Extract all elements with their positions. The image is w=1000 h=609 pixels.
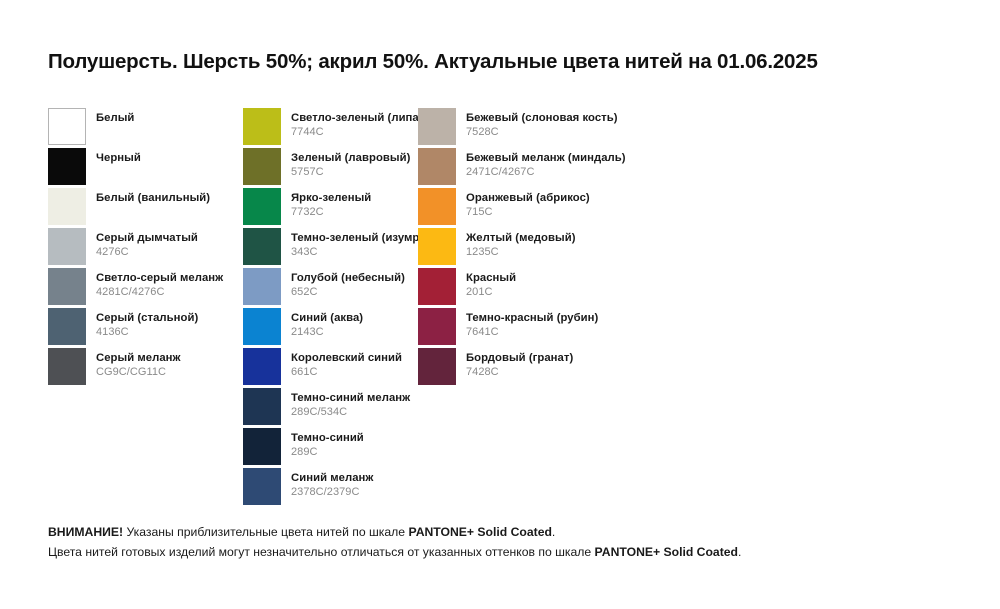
- color-name: Серый (стальной): [96, 312, 198, 325]
- swatch-row[interactable]: Бежевый (слоновая кость)7528C: [418, 108, 658, 148]
- pantone-code: 652C: [291, 286, 405, 299]
- swatch-labels: Серый (стальной)4136C: [96, 308, 198, 339]
- color-swatch[interactable]: [48, 268, 86, 305]
- swatch-row[interactable]: Серый дымчатый4276C: [48, 228, 238, 268]
- pantone-code: 7744C: [291, 126, 423, 139]
- swatch-row[interactable]: Темно-синий меланж289C/534C: [243, 388, 423, 428]
- color-name: Ярко-зеленый: [291, 192, 371, 205]
- swatch-labels: Зеленый (лавровый)5757C: [291, 148, 410, 179]
- color-swatch[interactable]: [243, 188, 281, 225]
- swatch-row[interactable]: Зеленый (лавровый)5757C: [243, 148, 423, 188]
- swatch-labels: Королевский синий661C: [291, 348, 402, 379]
- color-swatch[interactable]: [243, 108, 281, 145]
- footer-note: ВНИМАНИЕ! Указаны приблизительные цвета …: [48, 522, 741, 562]
- color-swatch[interactable]: [418, 108, 456, 145]
- swatch-labels: Белый (ванильный): [96, 188, 210, 205]
- footer-line-1: ВНИМАНИЕ! Указаны приблизительные цвета …: [48, 522, 741, 542]
- pantone-code: 289C: [291, 446, 364, 459]
- swatch-row[interactable]: Красный201C: [418, 268, 658, 308]
- swatch-row[interactable]: Серый (стальной)4136C: [48, 308, 238, 348]
- color-swatch[interactable]: [243, 468, 281, 505]
- color-name: Синий (аква): [291, 312, 363, 325]
- footer-line-1-end: .: [552, 525, 555, 539]
- color-name: Светло-серый меланж: [96, 272, 223, 285]
- pantone-code: 4276C: [96, 246, 198, 259]
- swatch-labels: Темно-синий меланж289C/534C: [291, 388, 410, 419]
- color-swatch[interactable]: [243, 148, 281, 185]
- color-name: Зеленый (лавровый): [291, 152, 410, 165]
- footer-pantone-label-2: PANTONE+ Solid Coated: [595, 545, 738, 559]
- color-swatch[interactable]: [418, 148, 456, 185]
- pantone-code: 2143C: [291, 326, 363, 339]
- color-swatch[interactable]: [418, 228, 456, 265]
- swatch-labels: Черный: [96, 148, 141, 165]
- color-swatch[interactable]: [48, 308, 86, 345]
- color-name: Оранжевый (абрикос): [466, 192, 590, 205]
- pantone-code: 4136C: [96, 326, 198, 339]
- color-name: Королевский синий: [291, 352, 402, 365]
- swatch-labels: Бежевый (слоновая кость)7528C: [466, 108, 618, 139]
- swatch-labels: Синий меланж2378C/2379C: [291, 468, 374, 499]
- footer-line-2-text: Цвета нитей готовых изделий могут незнач…: [48, 545, 595, 559]
- color-swatch[interactable]: [48, 188, 86, 225]
- swatch-row[interactable]: Черный: [48, 148, 238, 188]
- swatch-labels: Бордовый (гранат)7428C: [466, 348, 573, 379]
- pantone-code: 2378C/2379C: [291, 486, 374, 499]
- swatch-row[interactable]: Голубой (небесный)652C: [243, 268, 423, 308]
- footer-line-2: Цвета нитей готовых изделий могут незнач…: [48, 542, 741, 562]
- swatch-row[interactable]: Желтый (медовый)1235C: [418, 228, 658, 268]
- pantone-code: 201C: [466, 286, 516, 299]
- color-name: Серый меланж: [96, 352, 181, 365]
- color-swatch[interactable]: [418, 188, 456, 225]
- color-swatch[interactable]: [418, 308, 456, 345]
- color-swatch[interactable]: [243, 428, 281, 465]
- footer-line-1-text: Указаны приблизительные цвета нитей по ш…: [123, 525, 408, 539]
- swatch-labels: Серый дымчатый4276C: [96, 228, 198, 259]
- swatch-labels: Серый меланжCG9C/CG11C: [96, 348, 181, 379]
- swatch-row[interactable]: Бордовый (гранат)7428C: [418, 348, 658, 388]
- swatch-row[interactable]: Королевский синий661C: [243, 348, 423, 388]
- color-name: Темно-синий: [291, 432, 364, 445]
- swatch-labels: Темно-синий289C: [291, 428, 364, 459]
- color-swatch[interactable]: [48, 228, 86, 265]
- swatch-labels: Темно-зеленый (изумруд)343C: [291, 228, 436, 259]
- column-neutrals: БелыйЧерныйБелый (ванильный)Серый дымчат…: [48, 108, 238, 388]
- color-name: Желтый (медовый): [466, 232, 576, 245]
- swatch-row[interactable]: Белый (ванильный): [48, 188, 238, 228]
- pantone-code: 1235C: [466, 246, 576, 259]
- color-name: Белый (ванильный): [96, 192, 210, 205]
- pantone-code: 661C: [291, 366, 402, 379]
- swatch-row[interactable]: Серый меланжCG9C/CG11C: [48, 348, 238, 388]
- pantone-code: 7732C: [291, 206, 371, 219]
- color-name: Серый дымчатый: [96, 232, 198, 245]
- swatch-labels: Светло-зеленый (липа)7744C: [291, 108, 423, 139]
- swatch-row[interactable]: Белый: [48, 108, 238, 148]
- swatch-row[interactable]: Темно-красный (рубин)7641C: [418, 308, 658, 348]
- swatch-labels: Темно-красный (рубин)7641C: [466, 308, 598, 339]
- pantone-code: 7428C: [466, 366, 573, 379]
- swatch-labels: Ярко-зеленый7732C: [291, 188, 371, 219]
- color-name: Бежевый (слоновая кость): [466, 112, 618, 125]
- color-name: Бордовый (гранат): [466, 352, 573, 365]
- color-name: Темно-синий меланж: [291, 392, 410, 405]
- color-swatch[interactable]: [48, 348, 86, 385]
- swatch-labels: Белый: [96, 108, 134, 125]
- page-title: Полушерсть. Шерсть 50%; акрил 50%. Актуа…: [48, 50, 818, 74]
- swatch-row[interactable]: Ярко-зеленый7732C: [243, 188, 423, 228]
- swatch-row[interactable]: Светло-серый меланж4281C/4276C: [48, 268, 238, 308]
- footer-pantone-label-1: PANTONE+ Solid Coated: [408, 525, 551, 539]
- pantone-code: 289C/534C: [291, 406, 410, 419]
- swatch-labels: Бежевый меланж (миндаль)2471C/4267C: [466, 148, 626, 179]
- pantone-code: CG9C/CG11C: [96, 366, 181, 379]
- pantone-code: 7641C: [466, 326, 598, 339]
- swatch-row[interactable]: Бежевый меланж (миндаль)2471C/4267C: [418, 148, 658, 188]
- swatch-labels: Красный201C: [466, 268, 516, 299]
- color-name: Светло-зеленый (липа): [291, 112, 423, 125]
- color-swatch[interactable]: [418, 348, 456, 385]
- pantone-code: 715C: [466, 206, 590, 219]
- color-name: Голубой (небесный): [291, 272, 405, 285]
- pantone-code: 7528C: [466, 126, 618, 139]
- swatch-row[interactable]: Синий (аква)2143C: [243, 308, 423, 348]
- pantone-code: 343C: [291, 246, 436, 259]
- footer-attention-label: ВНИМАНИЕ!: [48, 525, 123, 539]
- color-name: Темно-красный (рубин): [466, 312, 598, 325]
- color-swatch[interactable]: [48, 108, 86, 145]
- color-swatch[interactable]: [48, 148, 86, 185]
- swatch-labels: Желтый (медовый)1235C: [466, 228, 576, 259]
- swatch-row[interactable]: Синий меланж2378C/2379C: [243, 468, 423, 508]
- swatch-labels: Голубой (небесный)652C: [291, 268, 405, 299]
- footer-line-2-end: .: [738, 545, 741, 559]
- color-name: Синий меланж: [291, 472, 374, 485]
- color-card-page: Полушерсть. Шерсть 50%; акрил 50%. Актуа…: [0, 0, 1000, 609]
- color-swatch[interactable]: [418, 268, 456, 305]
- color-swatch[interactable]: [243, 228, 281, 265]
- pantone-code: 5757C: [291, 166, 410, 179]
- color-swatch[interactable]: [243, 388, 281, 425]
- pantone-code: 4281C/4276C: [96, 286, 223, 299]
- swatch-row[interactable]: Темно-зеленый (изумруд)343C: [243, 228, 423, 268]
- pantone-code: 2471C/4267C: [466, 166, 626, 179]
- column-warm-reds: Бежевый (слоновая кость)7528CБежевый мел…: [418, 108, 658, 388]
- color-name: Бежевый меланж (миндаль): [466, 152, 626, 165]
- color-swatch[interactable]: [243, 348, 281, 385]
- color-swatch[interactable]: [243, 308, 281, 345]
- color-name: Белый: [96, 112, 134, 125]
- swatch-row[interactable]: Светло-зеленый (липа)7744C: [243, 108, 423, 148]
- color-name: Красный: [466, 272, 516, 285]
- swatch-labels: Светло-серый меланж4281C/4276C: [96, 268, 223, 299]
- color-swatch[interactable]: [243, 268, 281, 305]
- swatch-row[interactable]: Темно-синий289C: [243, 428, 423, 468]
- swatch-row[interactable]: Оранжевый (абрикос)715C: [418, 188, 658, 228]
- column-greens-blues: Светло-зеленый (липа)7744CЗеленый (лавро…: [243, 108, 423, 508]
- swatch-labels: Синий (аква)2143C: [291, 308, 363, 339]
- color-name: Темно-зеленый (изумруд): [291, 232, 436, 245]
- swatch-labels: Оранжевый (абрикос)715C: [466, 188, 590, 219]
- color-name: Черный: [96, 152, 141, 165]
